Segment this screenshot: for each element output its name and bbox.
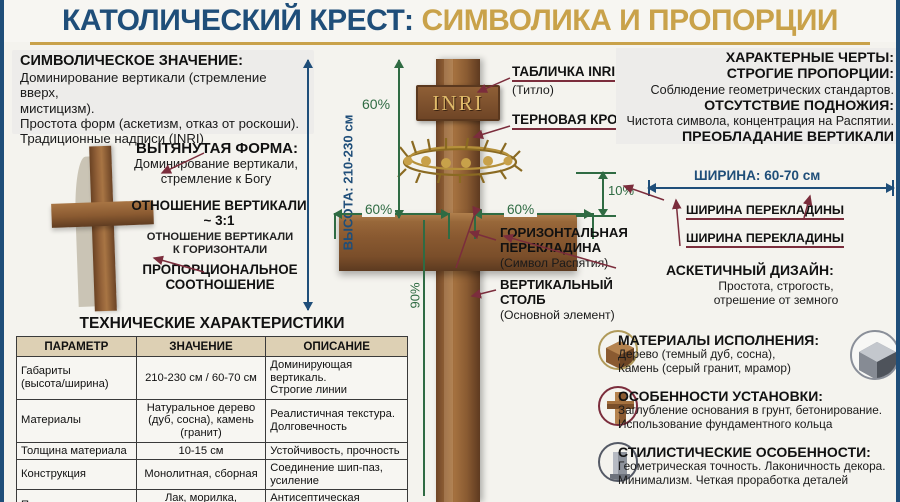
- right-arm-percent-label: 60%: [504, 202, 537, 217]
- height-dimension-label: ВЫСОТА: 210-230 см: [340, 115, 355, 251]
- table-cell-value-line: (дуб, сосна), камень: [141, 414, 262, 427]
- table-cell-desc-line: усиление: [270, 475, 403, 488]
- ratio-sub-2: К ГОРИЗОНТАЛИ: [128, 244, 312, 257]
- elongated-heading: ВЫТЯНУТАЯ ФОРМА:: [122, 140, 312, 157]
- page-title: КАТОЛИЧЕСКИЙ КРЕСТ: СИМВОЛИКА И ПРОПОРЦИ…: [4, 0, 896, 42]
- title-part-1: КАТОЛИЧЕСКИЙ КРЕСТ:: [62, 4, 413, 38]
- table-cell-desc: Антисептическаяобработка, декор: [266, 490, 408, 502]
- horizontal-beam-callout-sub: (Символ Распятия): [500, 256, 608, 270]
- table-cell-desc: Доминирующая вертикаль.Строгие линии: [266, 357, 408, 400]
- table-row: Толщина материала10-15 смУстойчивость, п…: [17, 442, 408, 460]
- elongated-sub-2: стремление к Богу: [116, 172, 316, 187]
- vertical-90-percent-label: 90%: [408, 282, 423, 308]
- technical-specs-table: ПАРАМЕТР ЗНАЧЕНИЕ ОПИСАНИЕ Габариты(высо…: [16, 336, 408, 502]
- features-sub1-text: Соблюдение геометрических стандартов.: [620, 83, 894, 98]
- table-cell-desc: Реалистичная текстура.Долговечность: [266, 399, 408, 442]
- table-cell-param-line: Материалы: [21, 414, 132, 427]
- table-cell-value-line: Натуральное дерево: [141, 402, 262, 415]
- table-cell-desc-line: Доминирующая вертикаль.: [270, 359, 403, 384]
- cross-vertical-beam: [436, 59, 480, 502]
- table-body: Габариты(высота/ширина)210-230 см / 60-7…: [17, 357, 408, 502]
- proportional-line-2: СООТНОШЕНИЕ: [122, 277, 318, 292]
- thickness-dimension-line: [602, 172, 604, 216]
- vertical-beam-line-2: СТОЛБ: [500, 293, 613, 308]
- installation-line-2: Использование фундаментного кольца: [618, 418, 900, 432]
- horizontal-beam-callout-heading: ГОРИЗОНТАЛЬНАЯ ПЕРЕКЛАДИНА: [500, 226, 628, 255]
- installation-heading: ОСОБЕННОСТИ УСТАНОВКИ:: [618, 388, 900, 404]
- crossbar-width-label-1: ШИРИНА ПЕРЕКЛАДИНЫ: [686, 203, 844, 220]
- table-cell-value-line: 210-230 см / 60-70 см: [141, 372, 262, 385]
- table-cell-param: Толщина материала: [17, 442, 137, 460]
- table-cell-param: Материалы: [17, 399, 137, 442]
- table-cell-value: Натуральное дерево(дуб, сосна), камень(г…: [136, 399, 266, 442]
- table-cell-param-line: Покрытие: [21, 499, 132, 502]
- height-dimension-line: [307, 60, 309, 310]
- thickness-guide-top: [576, 172, 616, 174]
- proportional-heading: ПРОПОРЦИОНАЛЬНОЕ СООТНОШЕНИЕ: [122, 262, 318, 292]
- installation-line-1: Заглубление основания в грунт, бетониров…: [618, 404, 900, 418]
- table-cell-param-line: Конструкция: [21, 468, 132, 481]
- vertical-beam-callout-sub: (Основной элемент): [500, 308, 615, 322]
- vertical-beam-line-1: ВЕРТИКАЛЬНЫЙ: [500, 278, 613, 293]
- vertical-90-percent-line: [423, 220, 425, 496]
- ascetic-line-1: Простота, строгость,: [666, 279, 886, 293]
- table-row: МатериалыНатуральное дерево(дуб, сосна),…: [17, 399, 408, 442]
- thickness-percent-label: 10%: [608, 183, 634, 198]
- infographic-page: КАТОЛИЧЕСКИЙ КРЕСТ: СИМВОЛИКА И ПРОПОРЦИ…: [0, 0, 900, 502]
- technical-specs-block: ТЕХНИЧЕСКИЕ ХАРАКТЕРИСТИКИ ПАРАМЕТР ЗНАЧ…: [16, 313, 408, 502]
- table-cell-desc: Устойчивость, прочность: [266, 442, 408, 460]
- table-row: ПокрытиеЛак, морилка,золочениеАнтисептич…: [17, 490, 408, 502]
- features-heading: ХАРАКТЕРНЫЕ ЧЕРТЫ:: [620, 50, 894, 66]
- table-cell-desc-line: Антисептическая: [270, 492, 403, 502]
- small-cross-vertical: [89, 146, 117, 312]
- table-cell-desc-line: Реалистичная текстура.: [270, 408, 403, 421]
- table-header-value: ЗНАЧЕНИЕ: [136, 337, 266, 357]
- width-dimension-line: [648, 187, 894, 189]
- crossbar-width-label-2: ШИРИНА ПЕРЕКЛАДИНЫ: [686, 231, 844, 248]
- table-header-row: ПАРАМЕТР ЗНАЧЕНИЕ ОПИСАНИЕ: [17, 337, 408, 357]
- tick-left: [334, 213, 336, 239]
- table-cell-desc-line: Устойчивость, прочность: [270, 445, 403, 458]
- symbolic-line-2: мистицизм).: [20, 101, 308, 116]
- symbolic-heading: СИМВОЛИЧЕСКОЕ ЗНАЧЕНИЕ:: [20, 53, 308, 70]
- ratio-subtext: ОТНОШЕНИЕ ВЕРТИКАЛИ К ГОРИЗОНТАЛИ: [128, 231, 312, 256]
- table-row: Габариты(высота/ширина)210-230 см / 60-7…: [17, 357, 408, 400]
- proportional-line-1: ПРОПОРЦИОНАЛЬНОЕ: [122, 262, 318, 277]
- table-cell-param: Покрытие: [17, 490, 137, 502]
- symbolic-line-3: Простота форм (аскетизм, отказ от роскош…: [20, 116, 308, 131]
- ascetic-design-text: Простота, строгость, отрешение от земног…: [666, 279, 886, 307]
- features-sub1-heading: СТРОГИЕ ПРОПОРЦИИ:: [620, 66, 894, 82]
- symbolic-line-1: Доминирование вертикали (стремление ввер…: [20, 70, 308, 101]
- table-cell-desc: Соединение шип-паз,усиление: [266, 460, 408, 490]
- title-part-2: СИМВОЛИКА И ПРОПОРЦИИ: [421, 4, 838, 38]
- table-cell-value: Монолитная, сборная: [136, 460, 266, 490]
- granite-cube-icon: [850, 330, 900, 380]
- table-cell-value: 10-15 см: [136, 442, 266, 460]
- stylistic-heading: СТИЛИСТИЧЕСКИЕ ОСОБЕННОСТИ:: [618, 444, 900, 460]
- inri-plaque: INRI: [416, 85, 500, 121]
- tick-mid-right: [474, 213, 476, 239]
- table-header-desc: ОПИСАНИЕ: [266, 337, 408, 357]
- ascetic-line-2: отрешение от земного: [666, 293, 886, 307]
- table-cell-value-line: 10-15 см: [141, 445, 262, 458]
- vertical-60-percent-line: [398, 60, 400, 218]
- table-cell-desc-line: Соединение шип-паз,: [270, 462, 403, 475]
- cross-vertical-highlight: [444, 59, 453, 502]
- table-header-param: ПАРАМЕТР: [17, 337, 137, 357]
- ratio-head-2: ~ 3:1: [124, 213, 314, 228]
- symbolic-meaning-block: СИМВОЛИЧЕСКОЕ ЗНАЧЕНИЕ: Доминирование ве…: [12, 50, 314, 134]
- table-cell-desc-line: Долговечность: [270, 421, 403, 434]
- table-cell-value: 210-230 см / 60-70 см: [136, 357, 266, 400]
- installation-section: ОСОБЕННОСТИ УСТАНОВКИ: Заглубление основ…: [618, 388, 900, 432]
- inri-plaque-text: INRI: [432, 91, 483, 116]
- table-cell-value-line: Монолитная, сборная: [141, 468, 262, 481]
- characteristic-features-block: ХАРАКТЕРНЫЕ ЧЕРТЫ: СТРОГИЕ ПРОПОРЦИИ: Со…: [616, 48, 900, 144]
- thorn-crown-icon: [396, 137, 524, 183]
- table-cell-param-line: (высота/ширина): [21, 378, 132, 391]
- table-cell-value-line: (гранит): [141, 427, 262, 440]
- elongated-subtext: Доминирование вертикали, стремление к Бо…: [116, 157, 316, 186]
- inri-callout-heading: ТАБЛИЧКА INRI: [512, 64, 615, 82]
- title-divider: [30, 42, 870, 45]
- table-cell-desc-line: Строгие линии: [270, 384, 403, 397]
- arrow-crossbar-2: [676, 200, 680, 246]
- table-cell-param-line: Габариты: [21, 365, 132, 378]
- elongated-sub-1: Доминирование вертикали,: [116, 157, 316, 172]
- ratio-head-1: ОТНОШЕНИЕ ВЕРТИКАЛИ: [124, 198, 314, 213]
- stylistic-line-2: Минимализм. Четкая проработка деталей: [618, 474, 900, 488]
- table-title: ТЕХНИЧЕСКИЕ ХАРАКТЕРИСТИКИ: [16, 313, 408, 336]
- width-dimension-label: ШИРИНА: 60-70 см: [694, 168, 820, 183]
- table-cell-param: Габариты(высота/ширина): [17, 357, 137, 400]
- horizontal-beam-line-1: ГОРИЗОНТАЛЬНАЯ: [500, 226, 628, 241]
- thickness-guide-bottom: [576, 215, 616, 217]
- features-sub3-heading: ПРЕОБЛАДАНИЕ ВЕРТИКАЛИ: [620, 129, 894, 145]
- features-sub2-text: Чистота символа, концентрация на Распяти…: [620, 114, 894, 129]
- tick-mid-left: [448, 213, 450, 239]
- inri-callout-sub: (Титло): [512, 83, 554, 97]
- ratio-sub-1: ОТНОШЕНИЕ ВЕРТИКАЛИ: [128, 231, 312, 244]
- ratio-heading: ОТНОШЕНИЕ ВЕРТИКАЛИ ~ 3:1: [124, 198, 314, 228]
- features-sub2-heading: ОТСУТСТВИЕ ПОДНОЖИЯ:: [620, 98, 894, 114]
- left-arm-percent-label: 60%: [362, 202, 395, 217]
- table-row: КонструкцияМонолитная, сборнаяСоединение…: [17, 460, 408, 490]
- stylistic-line-1: Геометрическая точность. Лаконичность де…: [618, 460, 900, 474]
- stylistic-section: СТИЛИСТИЧЕСКИЕ ОСОБЕННОСТИ: Геометрическ…: [618, 444, 900, 488]
- vertical-60-percent-label: 60%: [362, 96, 390, 112]
- table-cell-value: Лак, морилка,золочение: [136, 490, 266, 502]
- horizontal-beam-line-2: ПЕРЕКЛАДИНА: [500, 241, 628, 256]
- vertical-beam-callout-heading: ВЕРТИКАЛЬНЫЙ СТОЛБ: [500, 278, 613, 307]
- table-cell-value-line: Лак, морилка,: [141, 492, 262, 502]
- table-cell-param-line: Толщина материала: [21, 445, 132, 458]
- table-cell-param: Конструкция: [17, 460, 137, 490]
- ascetic-design-heading: АСКЕТИЧНЫЙ ДИЗАЙН:: [666, 262, 834, 278]
